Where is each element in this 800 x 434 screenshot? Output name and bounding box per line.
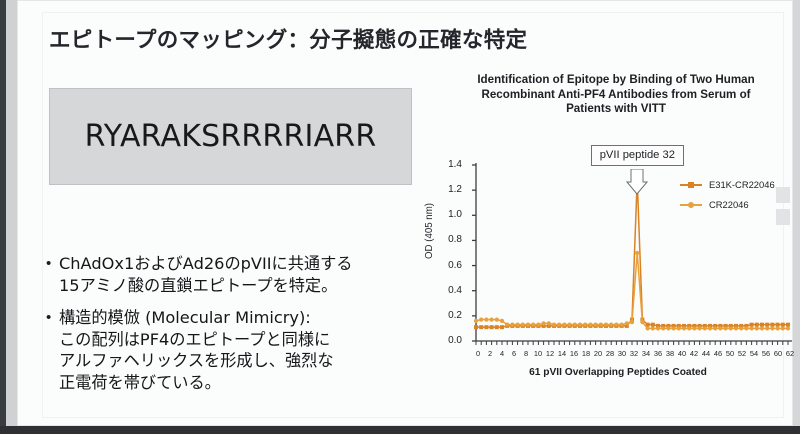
x-tick-label: 20 [594, 349, 602, 358]
legend-marker-square-icon [680, 180, 702, 190]
legend-label: E31K-CR22046 [709, 179, 775, 190]
window-bottom-edge [0, 426, 800, 434]
bullet-body: ChAdOx1およびAd26のpVIIに共通する 15アミノ酸の直鎖エピトープを… [59, 253, 426, 296]
bullet-line: 15アミノ酸の直鎖エピトープを特定。 [59, 275, 426, 297]
x-axis-label: 61 pVII Overlapping Peptides Coated [448, 367, 788, 378]
x-tick-label: 40 [678, 349, 686, 358]
x-tick-label: 52 [738, 349, 746, 358]
y-tick-label: 0.8 [438, 234, 462, 245]
x-tick-label: 28 [606, 349, 614, 358]
legend-item: E31K-CR22046 [680, 179, 775, 190]
peptide-sequence-text: RYARAKSRRRRIARR [85, 119, 377, 154]
x-tick-label: 14 [558, 349, 566, 358]
chart-title-line: Recombinant Anti-PF4 Antibodies from Ser… [440, 88, 792, 103]
peak-callout-label: pVII peptide 32 [591, 145, 684, 166]
bullet-marker: • [46, 253, 59, 296]
legend-marker-circle-icon [680, 200, 702, 210]
x-tick-label: 42 [690, 349, 698, 358]
x-tick-label: 54 [750, 349, 758, 358]
slide-canvas: エピトープのマッピング：分子擬態の正確な特定 RYARAKSRRRRIARR •… [17, 0, 793, 426]
x-tick-label: 30 [618, 349, 626, 358]
x-tick-label: 56 [762, 349, 770, 358]
x-tick-label: 60 [774, 349, 782, 358]
bullet-line: 正電荷を帯びている。 [59, 372, 426, 394]
y-tick-label: 1.2 [438, 184, 462, 195]
y-tick-label: 1.0 [438, 209, 462, 220]
x-tick-label: 12 [546, 349, 554, 358]
x-tick-label: 44 [702, 349, 710, 358]
list-item: • 構造的模倣 (Molecular Mimicry): この配列はPF4のエピ… [46, 307, 426, 393]
bullet-line: アルファヘリックスを形成し、強烈な [59, 350, 426, 372]
page-title: エピトープのマッピング：分子擬態の正確な特定 [49, 23, 649, 54]
window-left-dark-edge [0, 0, 6, 426]
bullet-line: 構造的模倣 (Molecular Mimicry): [59, 307, 426, 329]
x-tick-label: 0 [476, 349, 480, 358]
chart-title: Identification of Epitope by Binding of … [440, 73, 792, 117]
x-tick-label: 32 [630, 349, 638, 358]
bullet-body: 構造的模倣 (Molecular Mimicry): この配列はPF4のエピトー… [59, 307, 426, 393]
legend-item: CR22046 [680, 199, 775, 210]
x-tick-label: 18 [582, 349, 590, 358]
x-tick-label: 4 [500, 349, 504, 358]
y-tick-label: 0.6 [438, 260, 462, 271]
x-tick-label: 10 [534, 349, 542, 358]
x-tick-label: 34 [642, 349, 650, 358]
x-tick-label: 38 [666, 349, 674, 358]
bullet-marker: • [46, 307, 59, 393]
list-item: • ChAdOx1およびAd26のpVIIに共通する 15アミノ酸の直鎖エピトー… [46, 253, 426, 296]
x-tick-label: 8 [524, 349, 528, 358]
bullet-line: この配列はPF4のエピトープと同様に [59, 329, 426, 351]
x-axis-ticks: 0246810121416182028303234363840424446505… [476, 341, 788, 365]
x-tick-label: 46 [714, 349, 722, 358]
x-tick-label: 36 [654, 349, 662, 358]
bullet-list: • ChAdOx1およびAd26のpVIIに共通する 15アミノ酸の直鎖エピトー… [46, 253, 426, 404]
x-tick-label: 2 [488, 349, 492, 358]
y-tick-label: 1.4 [438, 159, 462, 170]
chart-title-line: Patients with VITT [440, 102, 792, 117]
y-tick-label: 0.2 [438, 310, 462, 321]
plot-area: pVII peptide 32 OD (405 nm) 0.00.20.40.6… [430, 151, 800, 389]
peptide-sequence-box: RYARAKSRRRRIARR [49, 88, 412, 185]
callout-down-arrow-icon [626, 169, 648, 195]
y-tick-label: 0.4 [438, 285, 462, 296]
x-tick-label: 50 [726, 349, 734, 358]
x-tick-label: 16 [570, 349, 578, 358]
figure-panel: Identification of Epitope by Binding of … [430, 73, 800, 398]
x-tick-label: 6 [512, 349, 516, 358]
x-tick-label: 62 [786, 349, 794, 358]
y-tick-label: 0.0 [438, 335, 462, 346]
y-axis-ticks: 0.00.20.40.60.81.01.21.4 [434, 151, 462, 341]
chart-title-line: Identification of Epitope by Binding of … [440, 73, 792, 88]
chart-legend: E31K-CR22046 CR22046 [680, 179, 775, 219]
legend-label: CR22046 [709, 199, 749, 210]
bullet-line: ChAdOx1およびAd26のpVIIに共通する [59, 253, 426, 275]
